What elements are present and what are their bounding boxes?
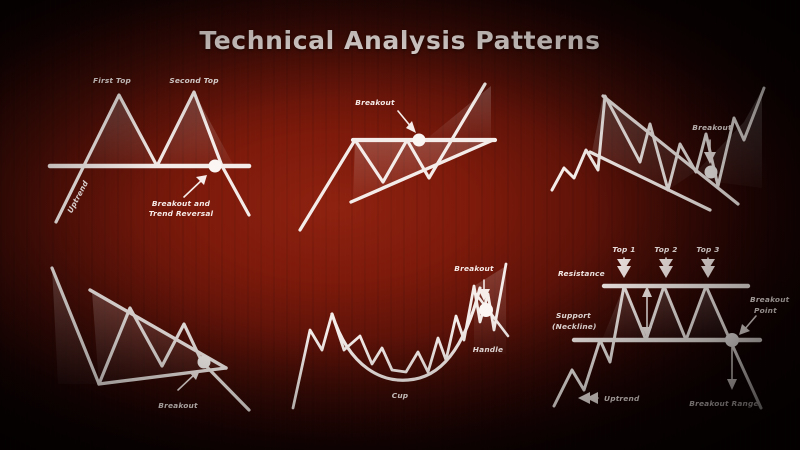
label-cup: Cup: [392, 391, 409, 400]
label-first-top: First Top: [93, 76, 131, 85]
label-second-top: Second Top: [169, 76, 218, 85]
label-top-1: Top 1: [612, 245, 635, 254]
label-breakout-range: Breakout Range: [689, 399, 758, 408]
pattern-falling-wedge: Breakout: [548, 78, 778, 243]
cup-curve: [332, 288, 480, 380]
label-support-line1: Support: [556, 311, 591, 320]
label-breakout: Breakout: [454, 264, 494, 273]
label-breakout: Breakout: [355, 98, 395, 107]
uptrend-arrow-icon: [578, 392, 598, 404]
label-top-3: Top 3: [696, 245, 719, 254]
breakout-arrow-icon: [398, 111, 416, 133]
pattern-descending-triangle: Breakout: [44, 262, 274, 427]
pattern-ascending-triangle: Breakout: [295, 78, 510, 243]
breakout-point-marker[interactable]: [413, 134, 426, 147]
breakout-point-marker[interactable]: [479, 303, 493, 317]
breakout-point-marker[interactable]: [198, 356, 211, 369]
breakout-point-arrow-icon: [739, 316, 756, 335]
pattern-cup-and-handle: Breakout Handle Cup: [288, 258, 513, 426]
top2-arrow-icon: [659, 258, 673, 278]
pattern-double-top: First Top Second Top Uptrend Breakout an…: [44, 70, 274, 245]
top1-arrow-icon: [617, 258, 631, 278]
label-breakout-point-line1: Breakout: [750, 295, 790, 304]
label-uptrend: Uptrend: [604, 394, 640, 403]
label-resistance: Resistance: [558, 269, 605, 278]
label-handle: Handle: [473, 345, 503, 354]
breakout-arrow-icon: [184, 175, 207, 197]
price-line: [554, 286, 761, 408]
label-breakout-point-line2: Point: [754, 306, 777, 315]
breakout-point-marker[interactable]: [209, 160, 222, 173]
pattern-height-arrow-icon: [642, 286, 652, 338]
infographic-canvas: Technical Analysis Patterns: [0, 0, 800, 450]
breakout-point-marker[interactable]: [725, 333, 739, 347]
label-support-line2: (Neckline): [552, 322, 597, 331]
page-title: Technical Analysis Patterns: [0, 26, 800, 55]
label-breakout-line2: Trend Reversal: [149, 209, 214, 218]
pattern-triple-top: Top 1 Top 2 Top 3 Resistance Support (Ne…: [546, 240, 791, 425]
label-breakout: Breakout: [158, 401, 198, 410]
breakout-point-marker[interactable]: [705, 166, 718, 179]
label-breakout: Breakout: [692, 123, 732, 132]
label-top-2: Top 2: [654, 245, 677, 254]
label-breakout-line1: Breakout and: [152, 199, 211, 208]
top3-arrow-icon: [701, 258, 715, 278]
